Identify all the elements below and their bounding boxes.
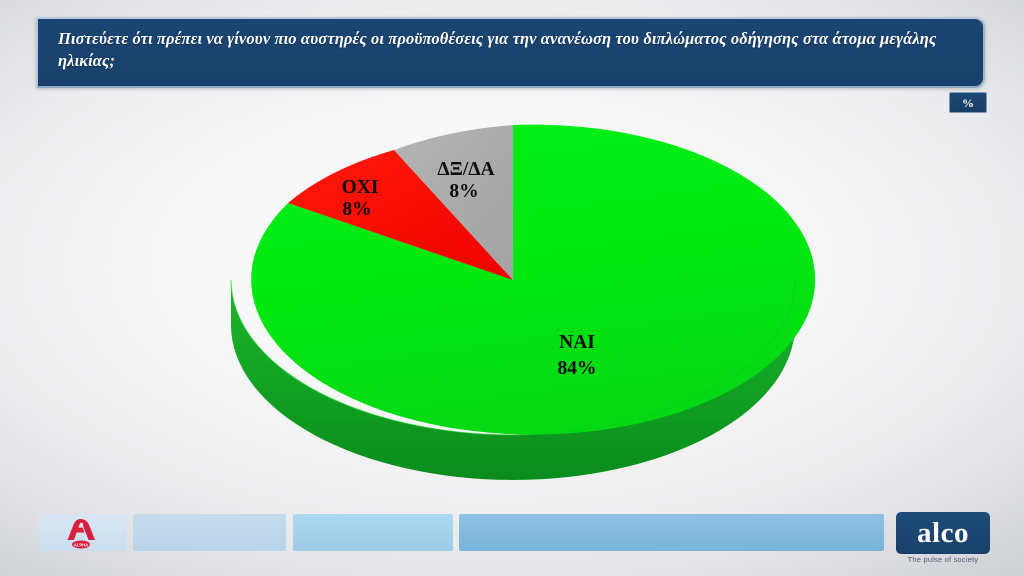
alco-wordmark: alco xyxy=(917,519,969,548)
alpha-tv-logo-icon: ALPHA xyxy=(64,518,98,549)
alco-tagline: The pulse of society xyxy=(896,555,990,564)
poll-slide: Πιστεύετε ότι πρέπει να γίνουν πιο αυστη… xyxy=(0,0,1024,576)
pie-slice-nai xyxy=(251,125,815,435)
pie-chart: ΝΑΙ 84% ΟΧΙ 8% ΔΞ/ΔΑ 8% xyxy=(0,0,1024,576)
footer-segment-2 xyxy=(133,514,286,551)
footer-segment-3 xyxy=(293,514,453,551)
pie-label-dxda-value: 8% xyxy=(449,181,478,202)
pie-label-nai-value: 84% xyxy=(558,358,597,379)
svg-text:ALPHA: ALPHA xyxy=(74,542,88,547)
footer-segment-4 xyxy=(459,514,884,551)
pie-label-oxi-name: ΟΧΙ xyxy=(342,177,379,198)
pie-label-dxda-name: ΔΞ/ΔΑ xyxy=(437,159,494,180)
alco-logo: alco xyxy=(896,512,990,554)
pie-chart-svg: ΝΑΙ 84% ΟΧΙ 8% ΔΞ/ΔΑ 8% xyxy=(0,0,1024,576)
pie-label-nai-name: ΝΑΙ xyxy=(559,332,595,353)
pie-label-oxi-value: 8% xyxy=(342,199,371,220)
footer-bar: ALPHA alco The pulse of society xyxy=(0,510,1024,576)
